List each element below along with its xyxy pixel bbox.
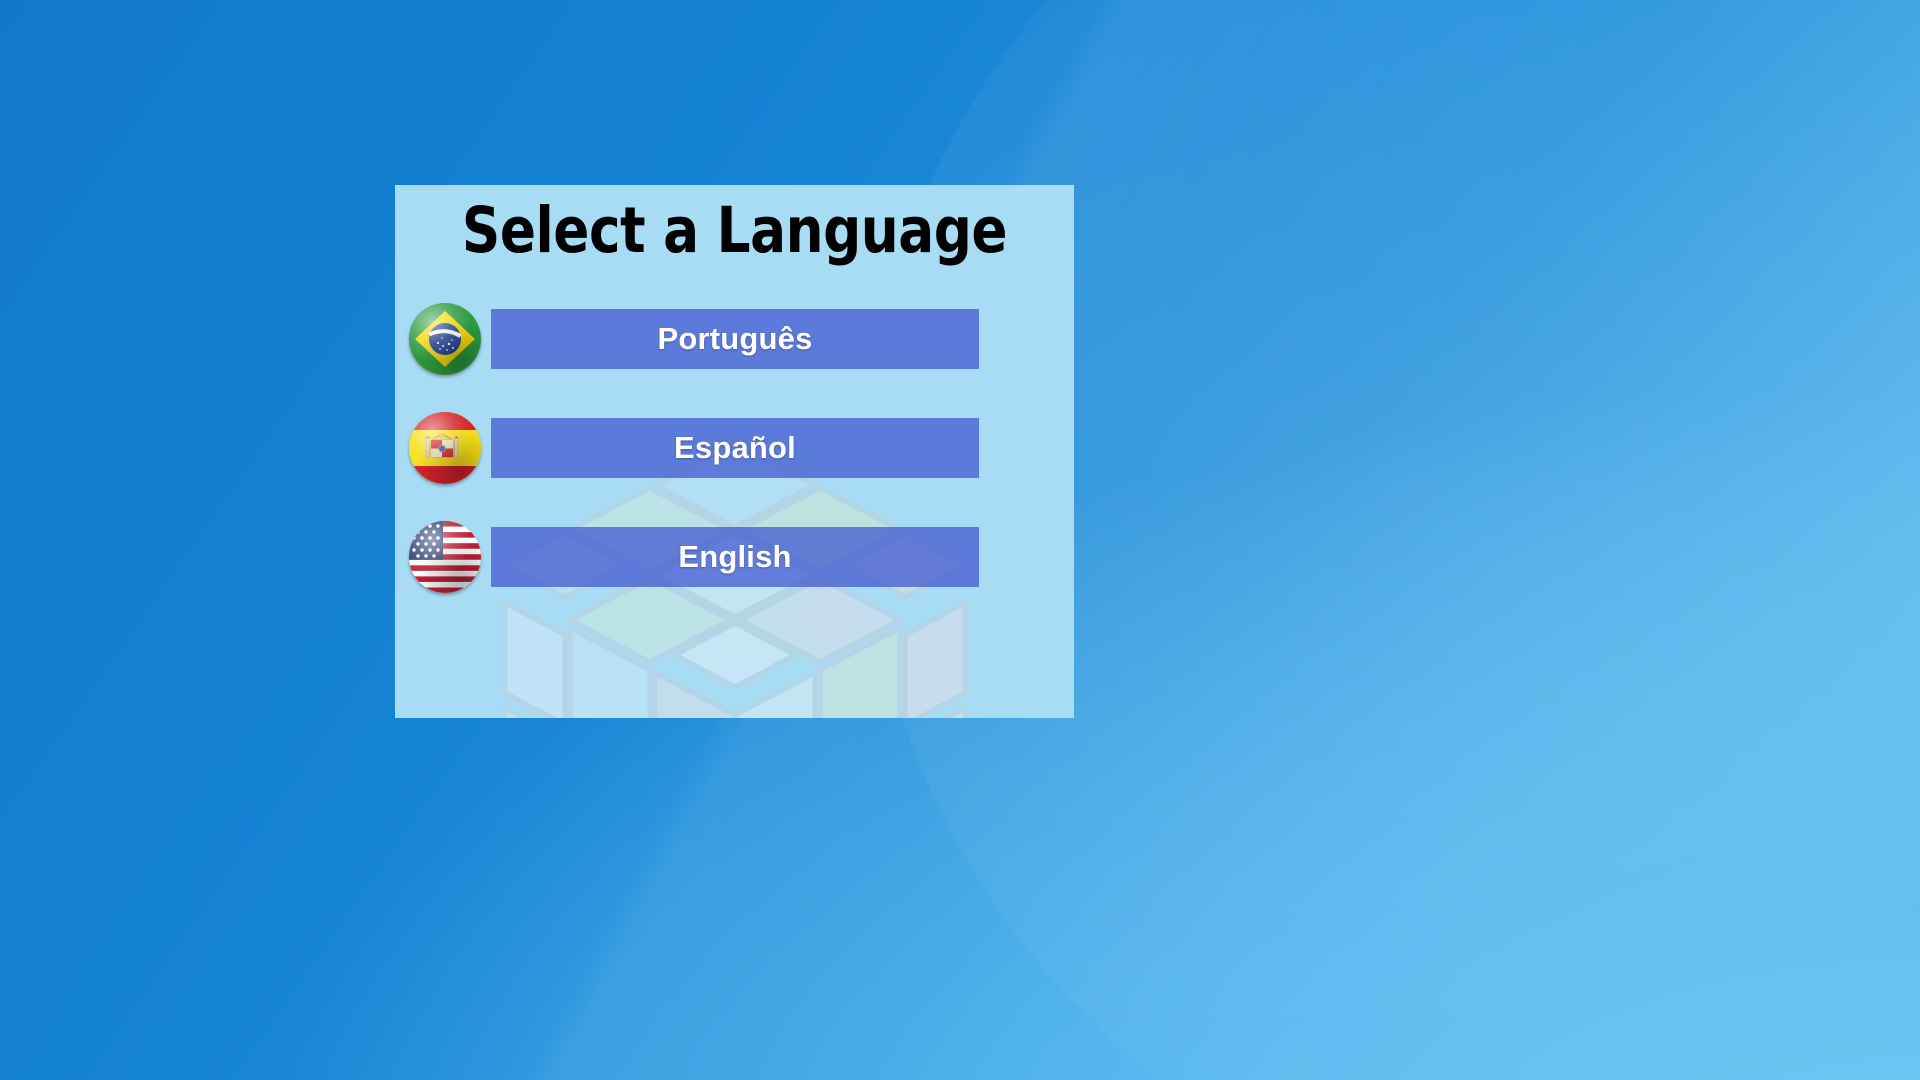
flag-gloss — [409, 303, 481, 375]
language-button-spanish[interactable]: Español — [491, 418, 979, 478]
flag-brazil-circle-icon — [409, 303, 481, 375]
flag-gloss — [409, 521, 481, 593]
list-item[interactable]: Português — [395, 303, 1074, 375]
flag-usa-circle-icon — [409, 521, 481, 593]
page-title: Select a Language — [415, 199, 1053, 262]
list-item[interactable]: English — [395, 521, 1074, 593]
flag-spain-circle-icon — [409, 412, 481, 484]
language-button-portuguese[interactable]: Português — [491, 309, 979, 369]
language-button-english[interactable]: English — [491, 527, 979, 587]
flag-gloss — [409, 412, 481, 484]
language-selection-panel: Select a Language Po — [395, 185, 1074, 718]
list-item[interactable]: Español — [395, 412, 1074, 484]
language-list: Português — [395, 303, 1074, 593]
